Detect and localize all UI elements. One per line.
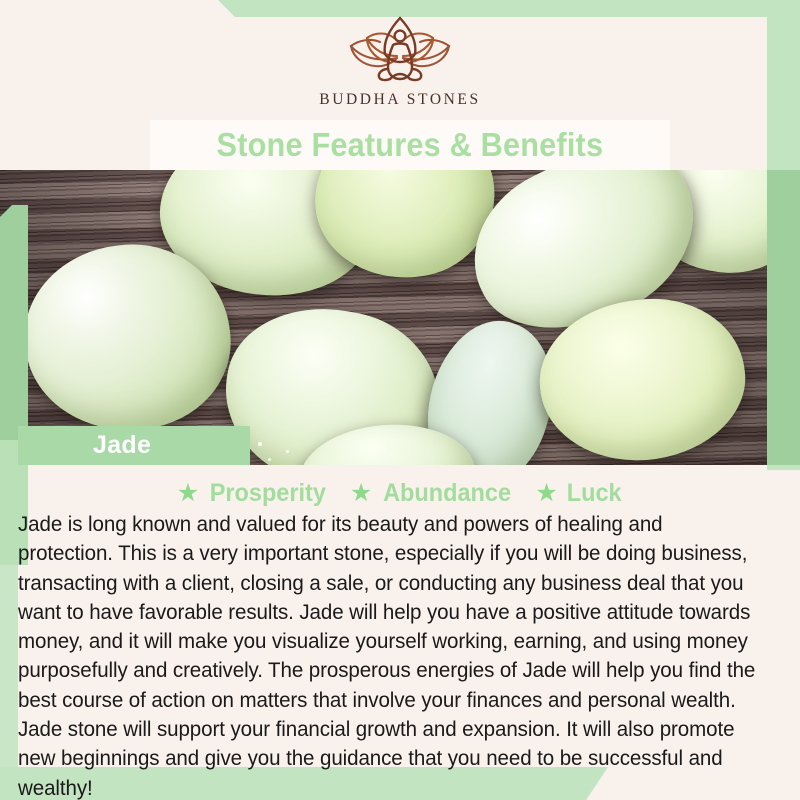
benefit-item: ★ Prosperity [177,479,330,508]
stone-name-label: Jade [93,431,151,460]
benefit-label: Luck [567,479,622,508]
benefits-row: ★ Prosperity ★ Abundance ★ Luck [0,477,800,510]
stone-glint [286,450,289,453]
brand-wordmark: BUDDHA STONES [319,91,480,109]
title-banner: Stone Features & Benefits [150,120,670,170]
benefit-item: ★ Luck [535,479,623,508]
stone-glint [268,458,271,461]
star-icon: ★ [535,481,557,506]
star-icon: ★ [350,481,372,506]
stone-description: Jade is long known and valued for its be… [18,510,763,800]
benefit-label: Prosperity [210,479,326,508]
poster-root: BUDDHA STONES Stone Features & Benefits … [0,0,800,800]
hero-image [0,170,800,465]
stone-name-tag: Jade [18,426,250,465]
page-title: Stone Features & Benefits [217,126,604,164]
lotus-meditation-icon [337,12,463,86]
benefit-item: ★ Abundance [350,479,516,508]
star-icon: ★ [177,481,199,506]
brand-logo: BUDDHA STONES [0,0,800,120]
decor-right-band-dark [767,170,800,465]
stone-glint [258,442,262,446]
benefit-label: Abundance [383,479,511,508]
